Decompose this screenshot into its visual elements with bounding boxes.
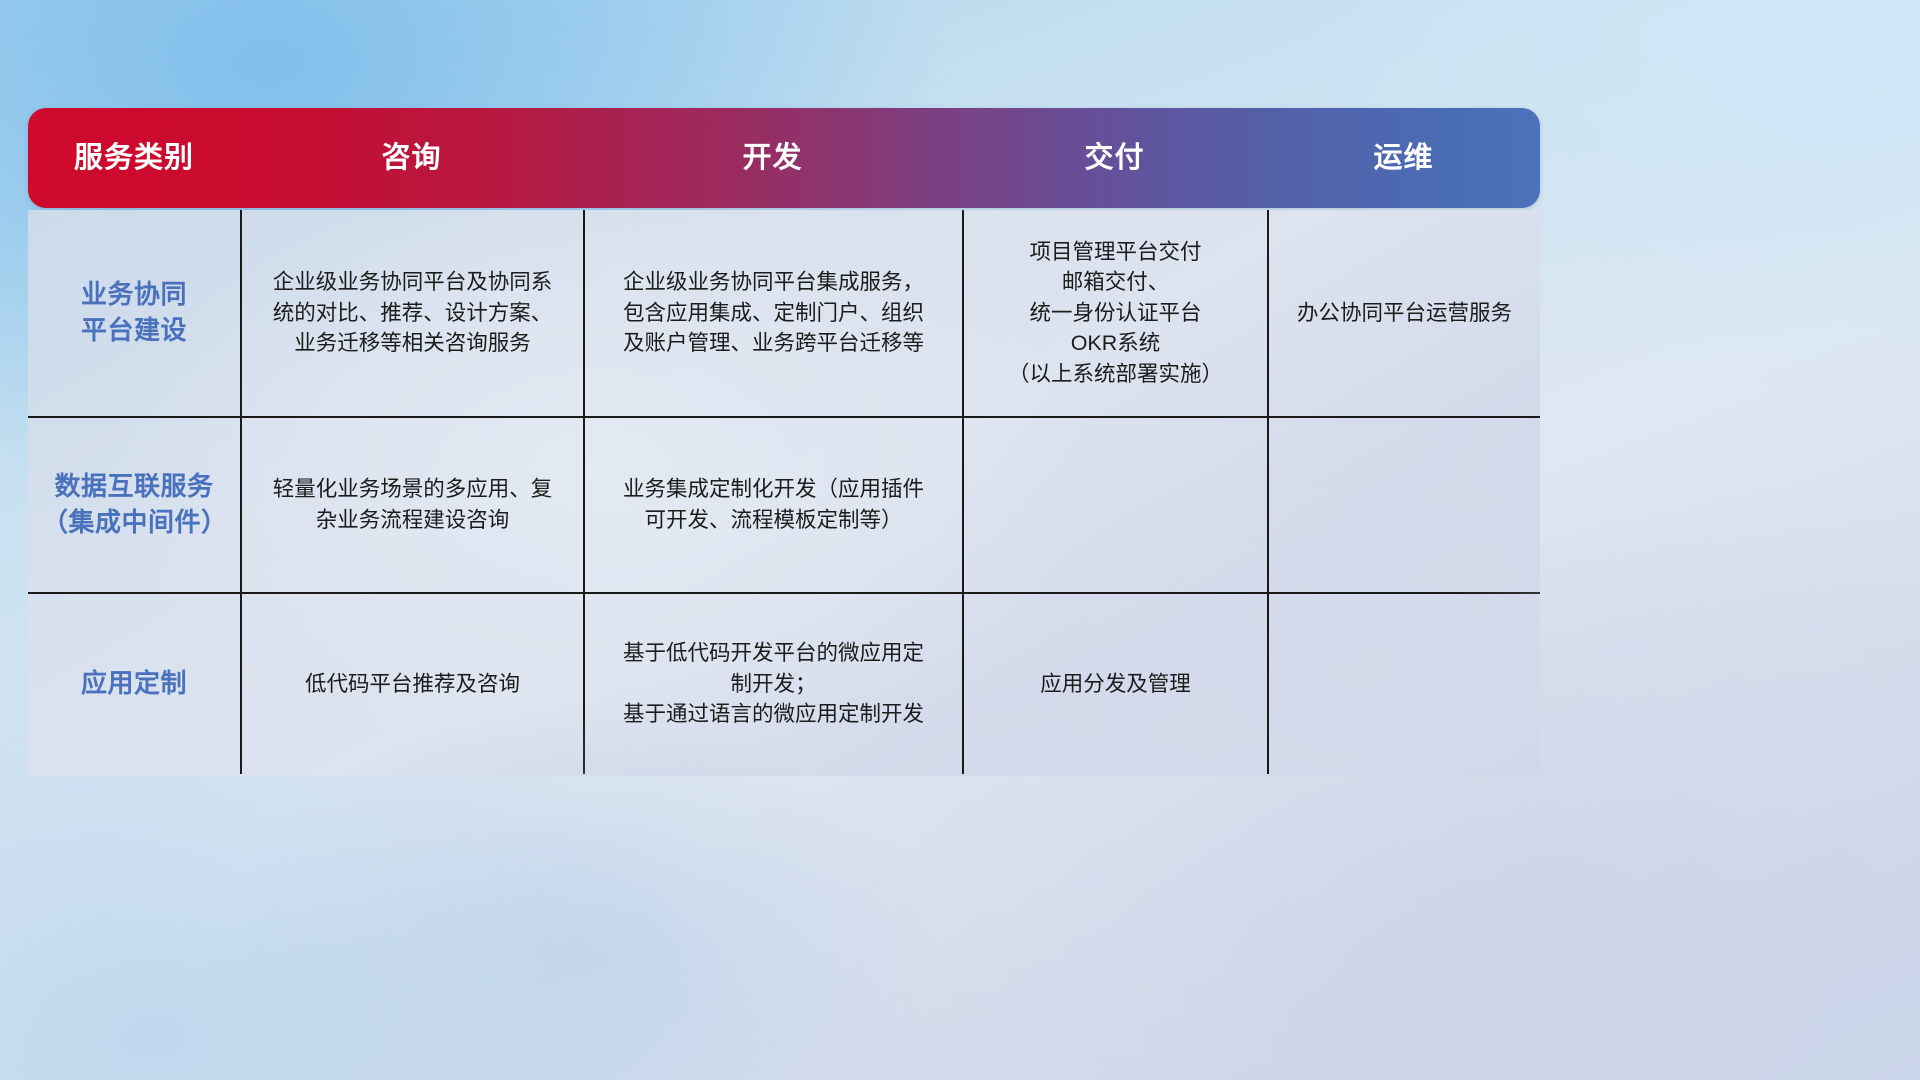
row-label-application-customization: 应用定制 [28,594,240,774]
table-body: 业务协同 平台建设 企业级业务协同平台及协同系 统的对比、推荐、设计方案、 业务… [28,210,1540,776]
table-row: 数据互联服务 （集成中间件） 轻量化业务场景的多应用、复 杂业务流程建设咨询 业… [28,416,1540,592]
cell-row2-delivery: 应用分发及管理 [962,594,1267,774]
cell-row1-operations [1267,418,1540,592]
table-row: 应用定制 低代码平台推荐及咨询 基于低代码开发平台的微应用定 制开发； 基于通过… [28,592,1540,774]
cell-row2-development: 基于低代码开发平台的微应用定 制开发； 基于通过语言的微应用定制开发 [583,594,962,774]
service-matrix-table: 服务类别 咨询 开发 交付 运维 业务协同 平台建设 企业级业务协同平台及协同系… [28,108,1540,776]
cell-row0-consulting: 企业级业务协同平台及协同系 统的对比、推荐、设计方案、 业务迁移等相关咨询服务 [240,210,583,416]
table-row: 业务协同 平台建设 企业级业务协同平台及协同系 统的对比、推荐、设计方案、 业务… [28,210,1540,416]
column-header-operations: 运维 [1267,144,1540,173]
cell-row0-delivery: 项目管理平台交付 邮箱交付、 统一身份认证平台 OKR系统 （以上系统部署实施） [962,210,1267,416]
cell-row1-consulting: 轻量化业务场景的多应用、复 杂业务流程建设咨询 [240,418,583,592]
column-header-category: 服务类别 [28,144,240,173]
column-header-development: 开发 [583,144,962,173]
cell-row0-development: 企业级业务协同平台集成服务， 包含应用集成、定制门户、组织 及账户管理、业务跨平… [583,210,962,416]
table-header-row: 服务类别 咨询 开发 交付 运维 [28,108,1540,208]
column-header-consulting: 咨询 [240,144,583,173]
cell-row1-delivery [962,418,1267,592]
cell-row1-development: 业务集成定制化开发（应用插件 可开发、流程模板定制等） [583,418,962,592]
cell-row2-consulting: 低代码平台推荐及咨询 [240,594,583,774]
cell-row0-operations: 办公协同平台运营服务 [1267,210,1540,416]
cell-row2-operations [1267,594,1540,774]
row-label-business-collaboration: 业务协同 平台建设 [28,210,240,416]
row-label-data-interconnect: 数据互联服务 （集成中间件） [28,418,240,592]
slide-canvas: 服务类别 咨询 开发 交付 运维 业务协同 平台建设 企业级业务协同平台及协同系… [0,0,1920,1080]
column-header-delivery: 交付 [962,144,1267,173]
